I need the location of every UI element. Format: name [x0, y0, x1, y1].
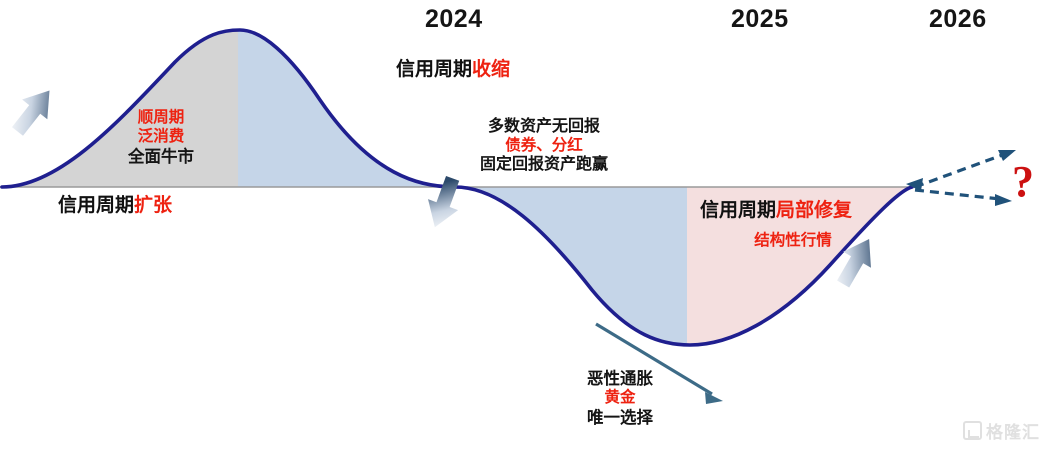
expansion-up-arrow-icon [5, 81, 62, 142]
scenario-question-mark: ? [1012, 156, 1034, 207]
expansion-annotation-block: 顺周期 泛消费 全面牛市 [101, 109, 221, 167]
year-label-2025: 2025 [731, 4, 789, 35]
expansion-line-3: 全面牛市 [101, 147, 221, 167]
contraction-phase-label: 信用周期收缩 [396, 58, 510, 81]
contraction-line-3: 固定回报资产跑赢 [460, 155, 628, 175]
repair-phase-prefix: 信用周期 [700, 200, 776, 221]
hyperinflation-line-2: 黄金 [555, 389, 685, 408]
repair-sub-label: 结构性行情 [718, 232, 868, 251]
above-axis-fills [0, 20, 468, 190]
scenario-flat-arrowhead [995, 194, 1012, 206]
expansion-phase-label: 信用周期扩张 [58, 194, 172, 217]
year-label-2024: 2024 [425, 4, 483, 35]
scenario-upside-dashed-line [915, 154, 1005, 187]
credit-cycle-diagram: 2024 2025 2026 顺周期 泛消费 全面牛市 信用周期扩张 信用周期收… [0, 0, 1054, 453]
logo-box-icon [963, 421, 982, 440]
expansion-phase-prefix: 信用周期 [58, 195, 134, 216]
repair-phase-label: 信用周期局部修复 [700, 199, 852, 222]
contraction-line-2: 债券、分红 [460, 137, 628, 156]
watermark: 格隆汇 [963, 418, 1040, 443]
expansion-line-2: 泛消费 [101, 128, 221, 147]
contraction-annotation-block: 多数资产无回报 债券、分红 固定回报资产跑赢 [460, 117, 628, 175]
contraction-down-arrow-icon [420, 173, 468, 233]
expansion-line-1: 顺周期 [101, 109, 221, 128]
hyperinflation-annotation-block: 恶性通胀 黄金 唯一选择 [555, 369, 685, 428]
contraction-line-1: 多数资产无回报 [460, 117, 628, 137]
hyperinflation-line-3: 唯一选择 [555, 408, 685, 428]
hyperinflation-line-1: 恶性通胀 [555, 369, 685, 389]
watermark-text: 格隆汇 [986, 418, 1040, 443]
hyperinflation-arrowhead [705, 392, 723, 404]
scenario-arrows [906, 150, 1016, 206]
contraction-phase-prefix: 信用周期 [396, 59, 472, 80]
region-contraction-blue-lower [450, 186, 687, 361]
repair-phase-highlight: 局部修复 [776, 200, 852, 221]
scenario-flat-dashed-line [915, 190, 1000, 199]
year-label-2026: 2026 [929, 4, 987, 35]
expansion-phase-highlight: 扩张 [134, 195, 172, 216]
contraction-phase-highlight: 收缩 [472, 59, 510, 80]
cycle-chart-svg [0, 0, 1054, 453]
